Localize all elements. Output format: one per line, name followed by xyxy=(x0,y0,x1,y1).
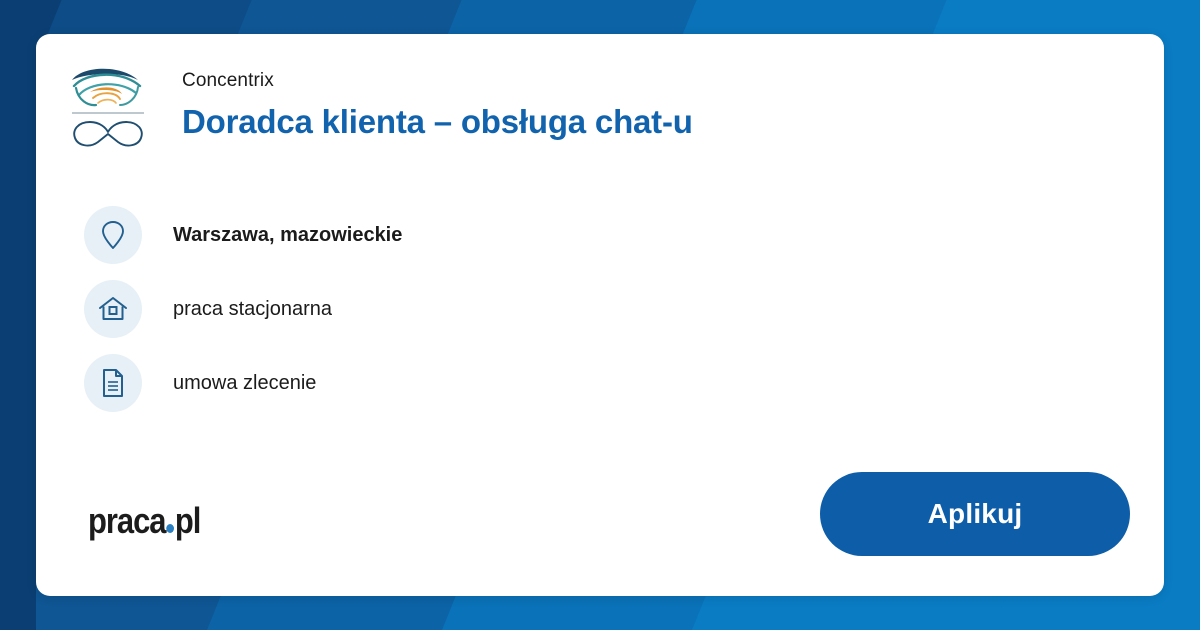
detail-row-work-mode: praca stacjonarna xyxy=(84,272,1164,346)
praca-pl-logo[interactable]: praca pl xyxy=(88,500,200,542)
home-icon xyxy=(84,280,142,338)
page-backdrop: Concentrix Doradca klienta – obsługa cha… xyxy=(0,0,1200,630)
praca-pl-logo-main: praca xyxy=(88,500,165,542)
concentrix-logo xyxy=(64,58,152,150)
job-details-list: Warszawa, mazowieckie praca stacjonarna xyxy=(36,198,1164,420)
page-title: Doradca klienta – obsługa chat-u xyxy=(182,101,693,142)
detail-row-contract: umowa zlecenie xyxy=(84,346,1164,420)
header-text-block: Concentrix Doradca klienta – obsługa cha… xyxy=(152,54,693,142)
detail-label-work-mode: praca stacjonarna xyxy=(173,298,332,321)
company-name: Concentrix xyxy=(182,70,693,93)
detail-label-contract: umowa zlecenie xyxy=(173,372,316,395)
card-header: Concentrix Doradca klienta – obsługa cha… xyxy=(36,34,1164,150)
document-icon xyxy=(84,354,142,412)
card-footer: praca pl Aplikuj xyxy=(36,446,1164,596)
job-offer-card: Concentrix Doradca klienta – obsługa cha… xyxy=(36,34,1164,596)
background-left-edge xyxy=(0,0,36,630)
apply-button[interactable]: Aplikuj xyxy=(820,472,1130,556)
praca-pl-logo-dot xyxy=(166,524,174,533)
detail-label-location: Warszawa, mazowieckie xyxy=(173,224,402,247)
location-pin-icon xyxy=(84,206,142,264)
praca-pl-logo-tld: pl xyxy=(175,500,200,542)
detail-row-location: Warszawa, mazowieckie xyxy=(84,198,1164,272)
